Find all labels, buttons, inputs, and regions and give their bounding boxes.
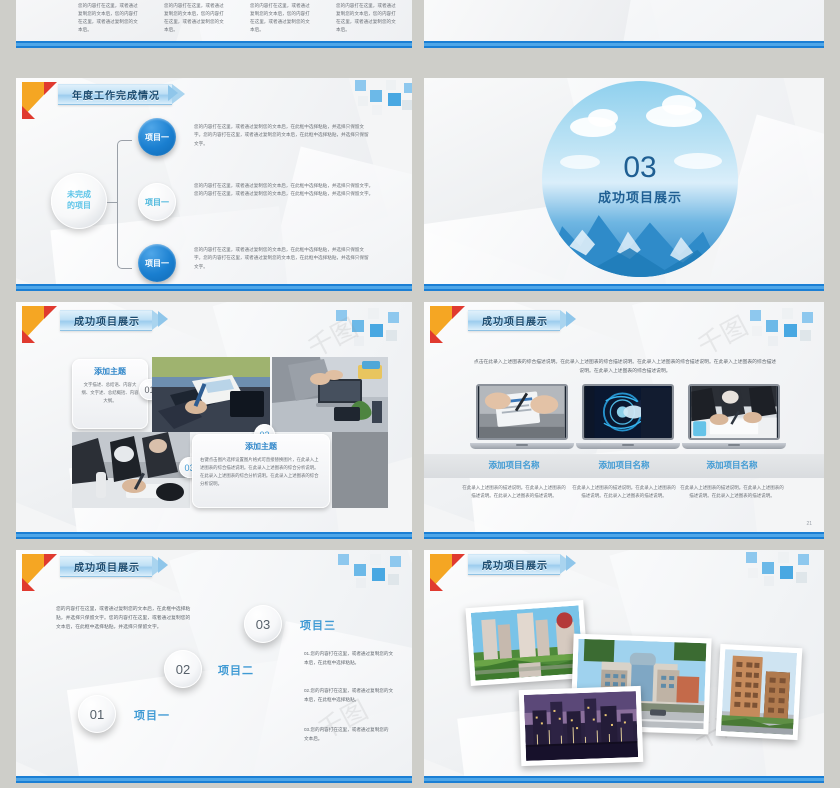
topic-card-1[interactable]: 添加主题 文字描述、总结语、内容大纲、文字述、总结概括、内容大纲。	[72, 359, 148, 429]
slide-title: 成功项目展示	[482, 557, 548, 572]
node-body-1: 您的内容打在这里，或者通过复制您的文本后，在此框中选择粘贴，并选择只保留文字。您…	[194, 123, 369, 148]
corner-flag-decoration	[22, 306, 58, 344]
photo-boardroom	[72, 432, 190, 508]
banner-chevron-icon	[168, 85, 178, 101]
corner-flag-decoration	[430, 306, 466, 344]
photo-meeting-documents	[152, 357, 270, 432]
step-label-02: 项目二	[218, 662, 254, 678]
section-title: 成功项目展示	[598, 187, 682, 206]
step-detail-1: 01.您的内容打在这里，或者通过复制您的文本后，在此框中选择粘贴。	[304, 650, 396, 667]
mountain-silhouette-icon	[542, 195, 725, 277]
column-body-1: 在此录入上述图表的描述说明。在此录入上述图表的描述说明。在此录入上述图表的描述说…	[462, 484, 566, 501]
slide-title: 成功项目展示	[74, 559, 140, 574]
node-label: 项目一	[145, 258, 169, 269]
strip-column-text: 您的内容打在这里，或者通过复制您的文本后，您的内容打在这里，或者通过复制您的文本…	[164, 2, 226, 34]
hub-circle[interactable]: 未完成 的项目	[51, 173, 107, 229]
node-circle-1[interactable]: 项目一	[138, 118, 176, 156]
corner-flag-decoration	[430, 554, 466, 592]
slide-bottom-bar	[424, 41, 824, 48]
slide-strip-right[interactable]: 点击添加文本 过复制您的文本后，在此框中选择粘贴，并选择只保留文字。	[424, 0, 824, 48]
corner-flag-decoration	[22, 82, 58, 120]
laptop-mockup-2	[582, 384, 674, 449]
strip-column-text: 您的内容打在这里，或者通过复制您的文本后，您的内容打在这里，或者通过复制您的文本…	[336, 2, 398, 34]
laptop-mockup-3	[688, 384, 780, 449]
node-label: 项目一	[145, 197, 169, 208]
photo-frame-1[interactable]	[465, 600, 588, 686]
slide-project-showcase-laptops[interactable]: 成功项目展示 千图 点击在此录入上述图表的综合描述说明。在此录入上述图表的综合描…	[424, 302, 824, 539]
slide-title-banner: 成功项目展示	[468, 554, 560, 575]
slide-project-showcase-steps[interactable]: 成功项目展示 千图 您的内容打在这里，或者通过复制您的文本后，在此框中选择粘贴，…	[16, 550, 412, 783]
strip-column-text: 您的内容打在这里，或者通过复制您的文本后，您的内容打在这里，或者通过复制您的文本…	[78, 2, 140, 34]
connector-stub	[107, 202, 118, 203]
slide-section-cover[interactable]: 03 成功项目展示	[424, 78, 824, 291]
slide-annual-work-completion[interactable]: 年度工作完成情况 未完成 的项目 项目一 项目一 项目	[16, 78, 412, 291]
slide-project-showcase-photos[interactable]: 成功项目展示 千图	[424, 550, 824, 783]
slide-bottom-bar	[16, 284, 412, 291]
column-body-3: 在此录入上述图表的描述说明。在此录入上述图表的描述说明。在此录入上述图表的描述说…	[680, 484, 784, 501]
slide-title-banner: 成功项目展示	[468, 310, 560, 331]
strip-column-text: 您的内容打在这里，或者通过复制您的文本后，您的内容打在这里，或者通过复制您的文本…	[250, 2, 312, 34]
slide-title-banner: 年度工作完成情况	[58, 84, 172, 105]
connector-bracket	[117, 140, 132, 269]
photo-frame-3[interactable]	[519, 686, 644, 766]
topic-card-heading: 添加主题	[192, 441, 330, 452]
column-heading-3: 添加项目名称	[672, 459, 792, 471]
corner-flag-decoration	[22, 554, 58, 592]
node-circle-2[interactable]: 项目一	[138, 183, 176, 221]
photo-placeholder-grey	[332, 432, 388, 508]
hub-label-line1: 未完成	[67, 190, 91, 201]
step-circle-02[interactable]: 02	[164, 650, 202, 688]
slide-title: 年度工作完成情况	[72, 87, 160, 102]
slide-title-banner: 成功项目展示	[60, 310, 152, 331]
section-number: 03	[623, 153, 656, 183]
banner-chevron-icon	[566, 555, 576, 571]
banner-chevron-icon	[566, 311, 576, 327]
slide-bottom-bar	[424, 284, 824, 291]
hub-label-line2: 的项目	[67, 201, 91, 212]
slide-title-banner: 成功项目展示	[60, 556, 152, 577]
step-detail-2: 02.您的内容打在这里，或者通过复制您的文本后，在此框中选择粘贴。	[304, 687, 396, 704]
slide-title: 成功项目展示	[482, 313, 548, 328]
column-heading-1: 添加项目名称	[454, 459, 574, 471]
slide-strip-left[interactable]: 您的内容打在这里，或者通过复制您的文本后，您的内容打在这里，或者通过复制您的文本…	[16, 0, 412, 48]
slide-project-showcase-collage[interactable]: 成功项目展示 千图 添加主题 文字描述、总结语、内容大纲、文字述、总结概括、内容…	[16, 302, 412, 539]
intro-text: 点击在此录入上述图表的综合描述说明。在此录入上述图表的综合描述说明。在此录入上述…	[472, 358, 778, 376]
step-circle-03[interactable]: 03	[244, 605, 282, 643]
topic-card-body: 右键点击图片选择设置图片格式可直接替换图片，在此录入上述图表的综合描述说明。在此…	[192, 452, 330, 488]
hub-circle-label: 未完成 的项目	[67, 190, 91, 212]
banner-chevron-icon	[158, 311, 168, 327]
node-label: 项目一	[145, 132, 169, 143]
node-body-2: 您的内容打在这里，或者通过复制您的文本后，在此框中选择粘贴，并选择只保留文字。您…	[194, 182, 376, 199]
photo-frame-4[interactable]	[716, 644, 803, 740]
step-label-03: 项目三	[300, 617, 336, 633]
column-heading-2: 添加项目名称	[564, 459, 684, 471]
section-cover-circle-image: 03 成功项目展示	[542, 81, 738, 277]
step-label-01: 项目一	[134, 707, 170, 723]
banner-chevron-icon	[158, 557, 168, 573]
node-body-3: 您的内容打在这里，或者通过复制您的文本后，在此框中选择粘贴，并选择只保留文字。您…	[194, 246, 372, 271]
node-circle-3[interactable]: 项目一	[138, 244, 176, 282]
slide-bottom-bar	[424, 532, 824, 539]
slide-bottom-bar	[16, 41, 412, 48]
step-detail-3: 03.您的内容打在这里，或者通过复制您的文本后。	[304, 726, 392, 743]
topic-card-body: 文字描述、总结语、内容大纲、文字述、总结概括、内容大纲。	[72, 377, 148, 405]
photo-typing-laptop	[272, 357, 388, 432]
laptop-mockup-1	[476, 384, 568, 449]
slide-bottom-bar	[424, 776, 824, 783]
slide-bottom-bar	[16, 776, 412, 783]
slide-deck-preview: 您的内容打在这里，或者通过复制您的文本后，您的内容打在这里，或者通过复制您的文本…	[0, 0, 840, 788]
step-number: 02	[176, 662, 190, 677]
slide-bottom-bar	[16, 532, 412, 539]
page-number: 21	[806, 521, 812, 527]
slide-title: 成功项目展示	[74, 313, 140, 328]
column-body-2: 在此录入上述图表的描述说明。在此录入上述图表的描述说明。在此录入上述图表的描述说…	[572, 484, 676, 501]
topic-card-3[interactable]: 添加主题 右键点击图片选择设置图片格式可直接替换图片，在此录入上述图表的综合描述…	[192, 434, 330, 508]
step-circle-01[interactable]: 01	[78, 695, 116, 733]
step-number: 03	[256, 617, 270, 632]
topic-card-heading: 添加主题	[72, 366, 148, 377]
step-number: 01	[90, 707, 104, 722]
intro-text: 您的内容打在这里，或者通过复制您的文本后，在此框中选择粘贴，并选择只保留文字。您…	[56, 605, 192, 632]
